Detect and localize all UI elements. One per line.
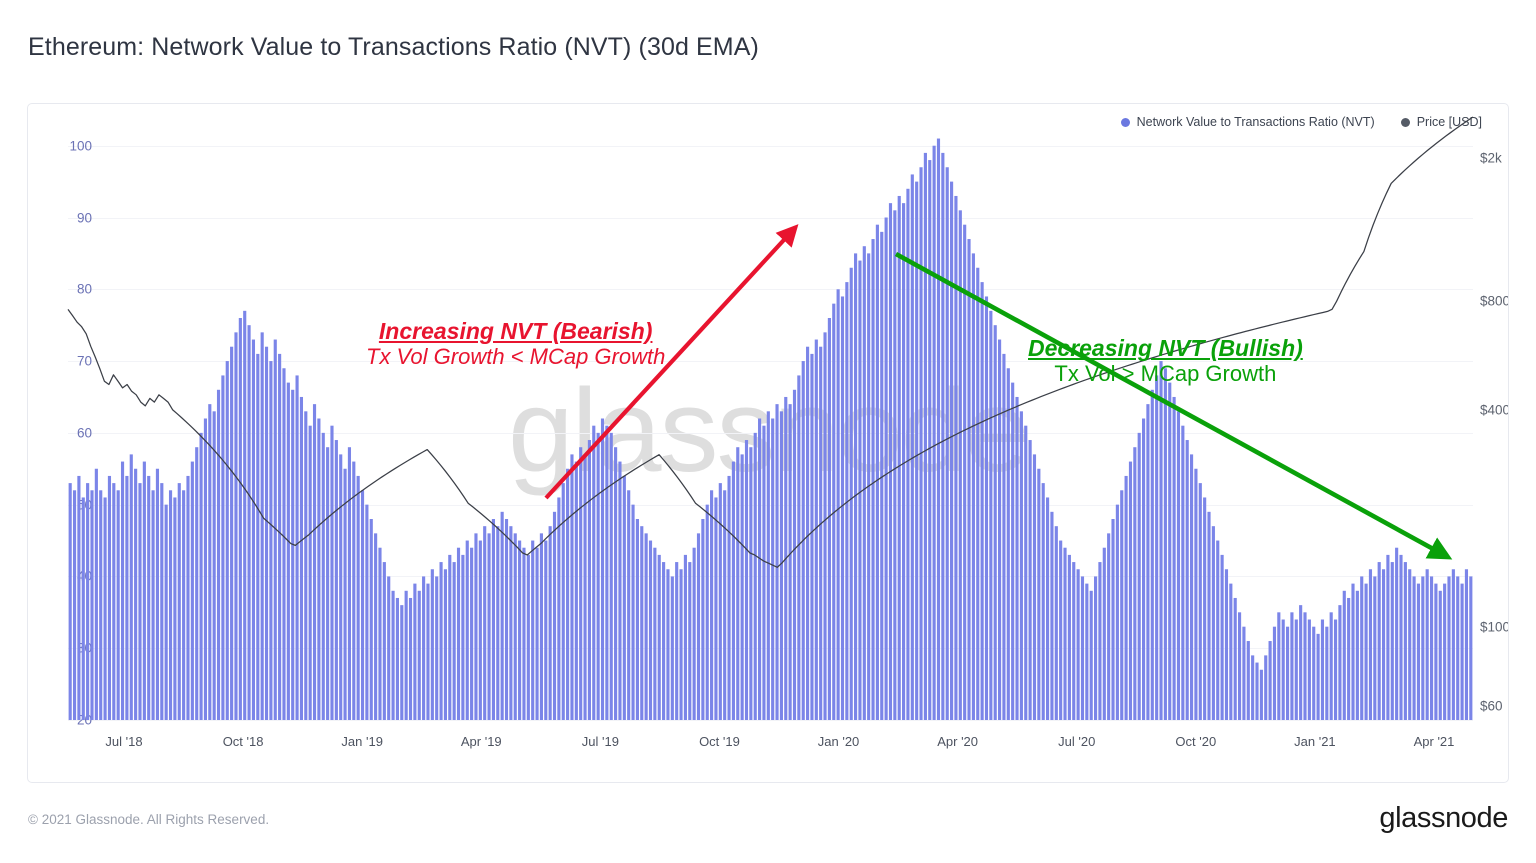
bar: [876, 225, 879, 720]
bar: [902, 203, 905, 720]
bar: [893, 210, 896, 720]
bar: [1059, 541, 1062, 720]
bar: [1255, 663, 1258, 720]
bar: [230, 347, 233, 720]
bar: [1094, 576, 1097, 720]
bar: [73, 490, 76, 720]
bar: [169, 490, 172, 720]
bar: [514, 533, 517, 720]
bar: [597, 433, 600, 720]
annotation-bullish-line2: Tx Vol > MCap Growth: [1028, 362, 1303, 387]
bar: [1050, 512, 1053, 720]
bar: [671, 576, 674, 720]
bar: [540, 533, 543, 720]
bar: [1216, 541, 1219, 720]
bar: [344, 469, 347, 720]
bar: [405, 591, 408, 720]
bar: [252, 340, 255, 720]
bar: [173, 497, 176, 720]
bar: [466, 541, 469, 720]
bar: [138, 483, 141, 720]
bar: [1234, 598, 1237, 720]
bar: [1247, 641, 1250, 720]
bar: [243, 311, 246, 720]
bar: [1090, 591, 1093, 720]
bar: [383, 562, 386, 720]
bar: [727, 476, 730, 720]
annotation-bearish-line1: Increasing NVT (Bearish): [366, 319, 665, 345]
bar: [1077, 569, 1080, 720]
bar: [1360, 576, 1363, 720]
bar: [1260, 670, 1263, 720]
bar: [134, 469, 137, 720]
bar: [850, 268, 853, 720]
bar: [741, 454, 744, 720]
bar: [828, 318, 831, 720]
bar: [1238, 612, 1241, 720]
bar: [1434, 584, 1437, 720]
bar: [440, 562, 443, 720]
annotation-bearish-line2: Tx Vol Growth < MCap Growth: [366, 345, 665, 370]
bar: [688, 562, 691, 720]
bar: [1417, 584, 1420, 720]
bar: [1103, 548, 1106, 720]
bar: [693, 548, 696, 720]
bar: [200, 433, 203, 720]
bar: [967, 239, 970, 720]
bar: [775, 404, 778, 720]
bar: [256, 354, 259, 720]
bar: [309, 426, 312, 720]
bar: [1212, 526, 1215, 720]
bar: [461, 555, 464, 720]
bar: [1447, 576, 1450, 720]
bar: [1312, 627, 1315, 720]
bar: [1173, 397, 1176, 720]
bar: [1229, 584, 1232, 720]
bar: [1356, 591, 1359, 720]
bar: [535, 548, 538, 720]
bar: [1085, 584, 1088, 720]
bar: [749, 447, 752, 720]
bar: [1055, 526, 1058, 720]
bar: [919, 167, 922, 720]
bar: [474, 533, 477, 720]
bar: [1029, 440, 1032, 720]
bar: [1186, 440, 1189, 720]
bar: [1365, 584, 1368, 720]
bar: [723, 490, 726, 720]
bar: [771, 419, 774, 721]
bar: [588, 440, 591, 720]
bar: [1251, 655, 1254, 720]
bar: [701, 519, 704, 720]
bar: [1068, 555, 1071, 720]
bar: [1395, 548, 1398, 720]
bar: [160, 483, 163, 720]
bar: [1107, 533, 1110, 720]
bar: [300, 397, 303, 720]
copyright-text: © 2021 Glassnode. All Rights Reserved.: [28, 812, 269, 827]
bar: [937, 139, 940, 720]
bar: [357, 476, 360, 720]
bar: [90, 490, 93, 720]
bar: [645, 533, 648, 720]
bar: [1002, 354, 1005, 720]
bar: [1046, 497, 1049, 720]
bar: [86, 483, 89, 720]
bar: [1443, 584, 1446, 720]
bar: [518, 541, 521, 720]
bar: [1295, 620, 1298, 721]
bar: [575, 462, 578, 720]
bar: [282, 368, 285, 720]
bar: [697, 533, 700, 720]
chart-page: Ethereum: Network Value to Transactions …: [0, 0, 1536, 863]
bar: [265, 347, 268, 720]
bar: [1334, 620, 1337, 721]
bar: [1465, 569, 1468, 720]
bar: [758, 419, 761, 721]
bar: [182, 490, 185, 720]
bar: [636, 519, 639, 720]
bar: [352, 462, 355, 720]
bar: [409, 598, 412, 720]
bar: [125, 476, 128, 720]
bar: [662, 562, 665, 720]
bar: [453, 562, 456, 720]
bar: [370, 519, 373, 720]
bar: [557, 497, 560, 720]
bar: [972, 253, 975, 720]
bar: [322, 433, 325, 720]
bar: [483, 526, 486, 720]
bar: [121, 462, 124, 720]
bar: [291, 390, 294, 720]
bar: [780, 411, 783, 720]
brand-logo: glassnode: [1379, 802, 1508, 835]
bar: [496, 526, 499, 720]
bar: [426, 584, 429, 720]
bar: [1351, 584, 1354, 720]
bar: [501, 512, 504, 720]
bar: [418, 591, 421, 720]
bar: [348, 447, 351, 720]
bar: [928, 160, 931, 720]
bar: [592, 426, 595, 720]
bar: [837, 289, 840, 720]
bar: [950, 182, 953, 720]
bar: [470, 548, 473, 720]
bar: [732, 462, 735, 720]
bar: [627, 490, 630, 720]
bar: [1386, 555, 1389, 720]
bar: [684, 555, 687, 720]
bar: [871, 239, 874, 720]
bar: [1116, 505, 1119, 720]
bar: [631, 505, 634, 720]
bar: [1133, 447, 1136, 720]
bar: [1282, 620, 1285, 721]
bar: [1129, 462, 1132, 720]
bar: [448, 555, 451, 720]
bar: [815, 340, 818, 720]
bar: [679, 569, 682, 720]
bar: [99, 490, 102, 720]
bar: [994, 325, 997, 720]
bar: [431, 569, 434, 720]
bar: [313, 404, 316, 720]
bar: [147, 476, 150, 720]
bar: [762, 426, 765, 720]
bar: [998, 340, 1001, 720]
bar: [1382, 569, 1385, 720]
bar: [754, 433, 757, 720]
bar: [710, 490, 713, 720]
bar: [819, 347, 822, 720]
bar: [549, 526, 552, 720]
bar: [1159, 361, 1162, 720]
bar: [1138, 433, 1141, 720]
bar: [1155, 375, 1158, 720]
bar: [287, 383, 290, 720]
bar: [226, 361, 229, 720]
bar: [1203, 497, 1206, 720]
bar: [941, 153, 944, 720]
bar: [1373, 576, 1376, 720]
bar: [509, 526, 512, 720]
bar: [422, 576, 425, 720]
page-title: Ethereum: Network Value to Transactions …: [28, 33, 759, 62]
bar: [296, 375, 299, 720]
bar: [1408, 569, 1411, 720]
chart-panel: Network Value to Transactions Ratio (NVT…: [27, 103, 1509, 783]
bar: [1242, 627, 1245, 720]
bar: [1098, 562, 1101, 720]
bar: [981, 282, 984, 720]
bar: [976, 268, 979, 720]
bar: [1120, 490, 1123, 720]
bar: [248, 325, 251, 720]
bar: [1330, 612, 1333, 720]
bar: [579, 447, 582, 720]
bar: [396, 598, 399, 720]
bar: [444, 569, 447, 720]
bar: [924, 153, 927, 720]
bar: [1378, 562, 1381, 720]
bar: [1308, 620, 1311, 721]
bar: [1430, 576, 1433, 720]
bar: [666, 569, 669, 720]
bar: [330, 426, 333, 720]
bar: [989, 311, 992, 720]
bar: [1269, 641, 1272, 720]
bar: [1181, 426, 1184, 720]
bar: [1338, 605, 1341, 720]
bar: [985, 296, 988, 720]
bar: [841, 296, 844, 720]
bar: [1413, 576, 1416, 720]
bar: [1303, 612, 1306, 720]
bar: [653, 548, 656, 720]
bar: [1369, 569, 1372, 720]
bar: [108, 476, 111, 720]
bar: [623, 476, 626, 720]
bar: [195, 447, 198, 720]
bar: [361, 490, 364, 720]
bar: [178, 483, 181, 720]
bar: [1111, 519, 1114, 720]
bar: [143, 462, 146, 720]
bar: [1190, 454, 1193, 720]
annotation-bullish: Decreasing NVT (Bullish) Tx Vol > MCap G…: [1028, 336, 1303, 386]
bar: [706, 505, 709, 720]
bar: [130, 454, 133, 720]
bar: [1404, 562, 1407, 720]
bar: [810, 354, 813, 720]
bar: [885, 218, 888, 721]
bar: [898, 196, 901, 720]
bar: [152, 490, 155, 720]
bar: [261, 332, 264, 720]
bar: [1456, 576, 1459, 720]
bar: [797, 375, 800, 720]
bar: [946, 167, 949, 720]
bar: [191, 462, 194, 720]
bar: [1277, 612, 1280, 720]
bar: [304, 411, 307, 720]
bar: [954, 196, 957, 720]
bar: [1225, 569, 1228, 720]
bar: [522, 548, 525, 720]
bar: [789, 404, 792, 720]
bar: [317, 419, 320, 721]
bar: [1469, 576, 1472, 720]
bar: [531, 541, 534, 720]
bar: [1461, 584, 1464, 720]
bar: [1015, 397, 1018, 720]
annotation-bearish: Increasing NVT (Bearish) Tx Vol Growth <…: [366, 319, 665, 369]
bar: [1199, 483, 1202, 720]
bar: [889, 203, 892, 720]
bar: [413, 584, 416, 720]
bar: [77, 476, 80, 720]
bar: [1146, 404, 1149, 720]
bar: [911, 174, 914, 720]
bar: [1273, 627, 1276, 720]
bar: [221, 375, 224, 720]
bar: [583, 454, 586, 720]
bar: [435, 576, 438, 720]
bar: [213, 411, 216, 720]
bar: [906, 189, 909, 720]
bar: [104, 497, 107, 720]
bar: [1391, 562, 1394, 720]
bar: [1024, 426, 1027, 720]
bar: [1177, 411, 1180, 720]
bar: [614, 447, 617, 720]
bar: [736, 447, 739, 720]
bar: [156, 469, 159, 720]
bar: [82, 497, 85, 720]
bar: [1072, 562, 1075, 720]
bar: [745, 440, 748, 720]
bar: [1042, 483, 1045, 720]
bar: [1290, 612, 1293, 720]
bar: [1164, 368, 1167, 720]
bar: [165, 505, 168, 720]
bar: [963, 225, 966, 720]
nvt-bars: [69, 139, 1473, 720]
bar: [1317, 634, 1320, 720]
bar: [858, 261, 861, 720]
plot-area: [28, 104, 1509, 783]
bar: [1221, 555, 1224, 720]
bar: [1343, 591, 1346, 720]
bar: [1063, 548, 1066, 720]
bar: [605, 426, 608, 720]
bar: [1194, 469, 1197, 720]
bar: [239, 318, 242, 720]
bar: [204, 419, 207, 721]
bar: [505, 519, 508, 720]
bar: [95, 469, 98, 720]
bar: [714, 497, 717, 720]
bar: [335, 440, 338, 720]
bar: [601, 419, 604, 721]
bar: [1007, 368, 1010, 720]
bar: [1264, 655, 1267, 720]
bar: [1426, 569, 1429, 720]
bar: [1151, 390, 1154, 720]
bar: [112, 483, 115, 720]
bar: [1081, 576, 1084, 720]
bar: [610, 433, 613, 720]
annotation-bullish-line1: Decreasing NVT (Bullish): [1028, 336, 1303, 362]
bar: [457, 548, 460, 720]
bar: [1299, 605, 1302, 720]
bar: [793, 390, 796, 720]
bar: [553, 512, 556, 720]
bar: [69, 483, 72, 720]
bar: [719, 483, 722, 720]
bar: [1033, 454, 1036, 720]
bar: [1125, 476, 1128, 720]
bar: [767, 411, 770, 720]
bar: [1325, 627, 1328, 720]
bar: [217, 390, 220, 720]
bar: [186, 476, 189, 720]
bar: [649, 541, 652, 720]
bar: [487, 533, 490, 720]
bar: [570, 454, 573, 720]
bar: [378, 548, 381, 720]
bar: [566, 469, 569, 720]
bar: [1207, 512, 1210, 720]
bar: [479, 541, 482, 720]
bar: [658, 555, 661, 720]
bar: [1020, 411, 1023, 720]
bar: [1286, 627, 1289, 720]
bar: [933, 146, 936, 720]
bar: [823, 332, 826, 720]
bar: [1439, 591, 1442, 720]
bar: [1011, 383, 1014, 720]
bar: [640, 526, 643, 720]
bar: [806, 347, 809, 720]
bar: [117, 490, 120, 720]
bar: [544, 541, 547, 720]
